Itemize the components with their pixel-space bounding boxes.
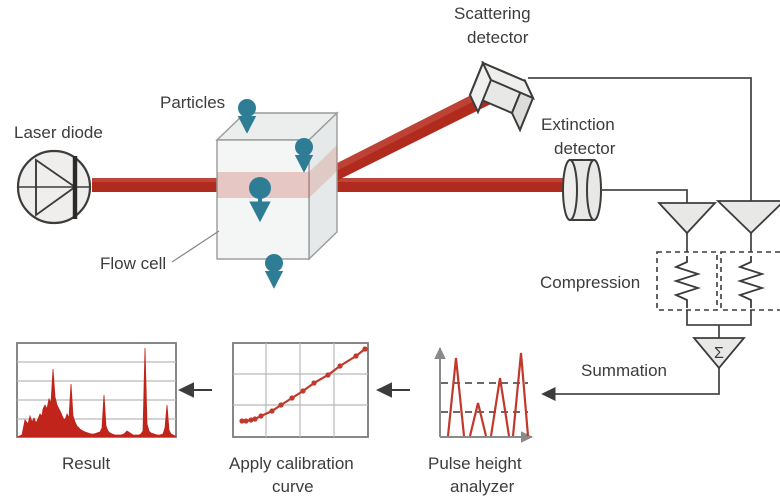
calibration-curve-chart — [233, 343, 368, 437]
label-summation: Summation — [581, 361, 667, 380]
flow-cell-leader — [172, 231, 219, 262]
pulse-traces — [448, 353, 528, 436]
compression-box-right — [721, 252, 780, 310]
label-extinction-detector-line1: Extinction — [541, 115, 615, 134]
diagram-canvas: Laser diode Particles Flow cell — [0, 0, 780, 503]
pulse-height-analyzer-chart — [440, 348, 532, 437]
label-particles: Particles — [160, 93, 225, 112]
result-histogram-chart — [17, 343, 176, 437]
label-scattering-detector-line2: detector — [467, 28, 529, 47]
scattering-detector — [470, 63, 533, 130]
amplifier-left — [659, 203, 715, 233]
label-pulse-height-line2: analyzer — [450, 477, 515, 496]
label-scattering-detector-line1: Scattering — [454, 4, 531, 23]
label-apply-calibration-line1: Apply calibration — [229, 454, 354, 473]
label-extinction-detector-line2: detector — [554, 139, 616, 158]
label-laser-diode: Laser diode — [14, 123, 103, 142]
summation-amplifier: Σ — [694, 338, 744, 368]
laser-diode-symbol — [18, 151, 90, 223]
particle-4 — [265, 254, 283, 286]
label-result: Result — [62, 454, 110, 473]
label-apply-calibration-line2: curve — [272, 477, 314, 496]
label-flow-cell: Flow cell — [100, 254, 166, 273]
label-compression: Compression — [540, 273, 640, 292]
amplifier-right — [718, 201, 780, 233]
compression-box-left — [657, 252, 717, 310]
extinction-detector — [563, 160, 601, 220]
sigma-symbol: Σ — [714, 345, 724, 362]
label-pulse-height-line1: Pulse height — [428, 454, 522, 473]
